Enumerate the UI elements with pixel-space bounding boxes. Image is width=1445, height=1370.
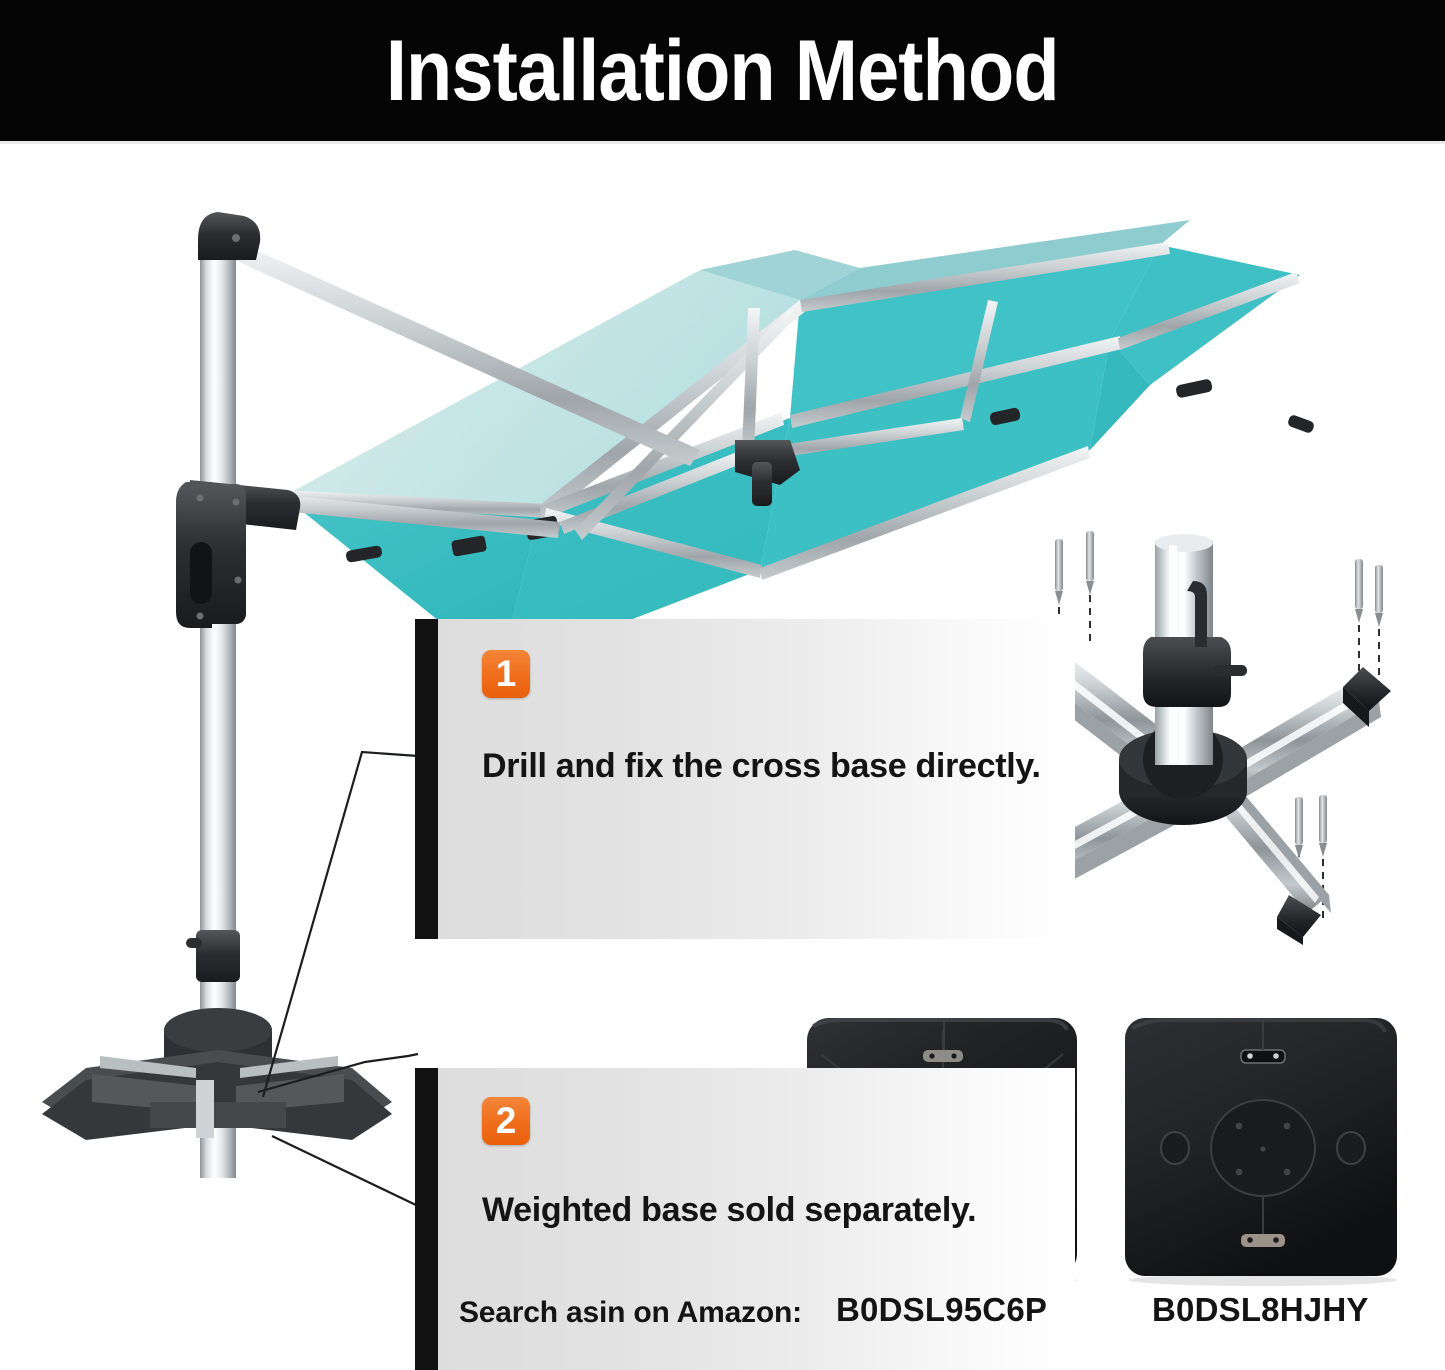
- weighted-base-2-illustration: [1113, 1008, 1413, 1286]
- step-number-badge-1: 1: [482, 650, 530, 698]
- step-card-2-accent-bar: [415, 1068, 438, 1370]
- step-text-2: Weighted base sold separately.: [482, 1186, 1042, 1235]
- step-card-1-accent-bar: [415, 619, 438, 939]
- infographic-page: Installation Method: [0, 0, 1445, 1370]
- height-collar: [186, 930, 240, 982]
- asin-code-1: B0DSL95C6P: [836, 1292, 1047, 1328]
- step-number-badge-2: 2: [482, 1097, 530, 1145]
- step-text-1: Drill and fix the cross base directly.: [482, 742, 1042, 791]
- step-card-1-body: 1 Drill and fix the cross base directly.: [438, 619, 1075, 939]
- asin-search-label: Search asin on Amazon:: [459, 1296, 802, 1330]
- mast-top-cap: [198, 212, 260, 260]
- step-card-1[interactable]: 1 Drill and fix the cross base directly.: [415, 619, 1075, 939]
- weight-plate-base: [42, 1050, 392, 1140]
- asin-code-2: B0DSL8HJHY: [1152, 1292, 1369, 1328]
- tilt-hinge-housing: [176, 480, 300, 628]
